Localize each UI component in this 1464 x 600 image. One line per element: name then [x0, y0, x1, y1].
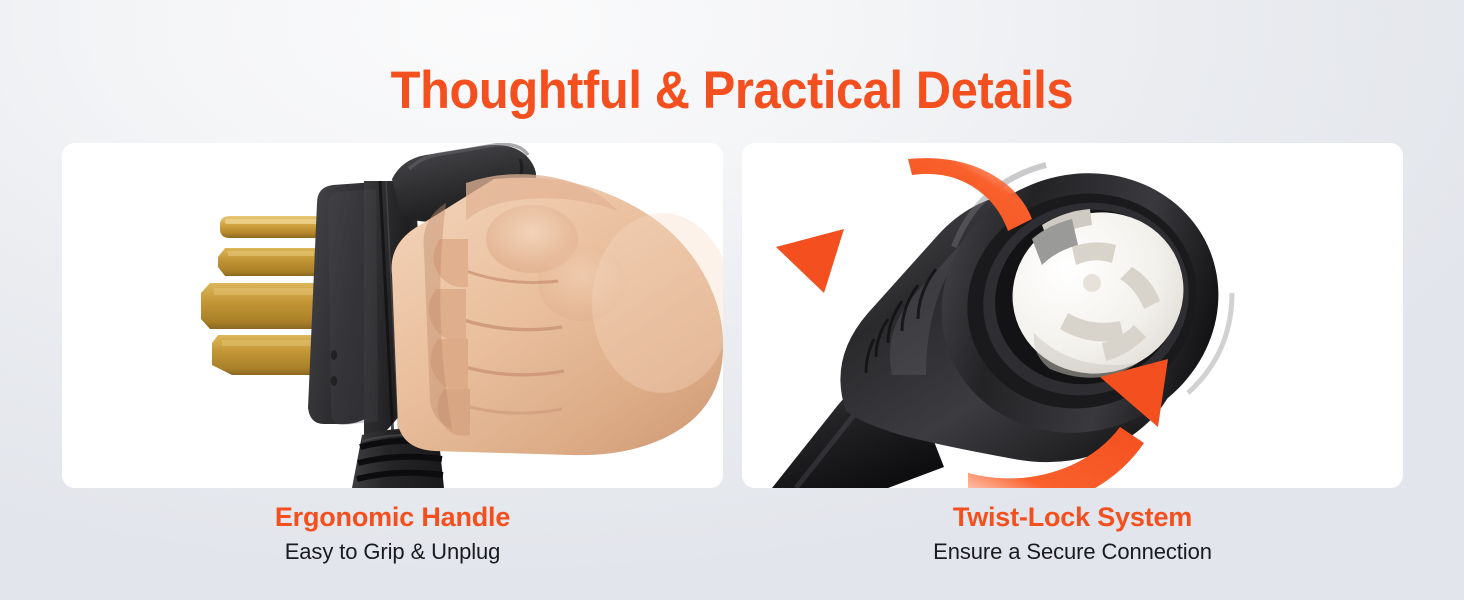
caption-subtitle-ergonomic-handle: Easy to Grip & Unplug	[62, 536, 723, 568]
twist-lock-illustration	[742, 143, 1403, 488]
caption-subtitle-twist-lock: Ensure a Secure Connection	[742, 536, 1403, 568]
feature-cards-row	[62, 143, 1403, 488]
ergonomic-handle-illustration	[62, 143, 723, 488]
hand-grip	[392, 174, 723, 455]
banner-title-container: Thoughtful & Practical Details	[0, 62, 1464, 120]
caption-title-twist-lock: Twist-Lock System	[742, 500, 1403, 534]
page-title: Thoughtful & Practical Details	[391, 62, 1074, 120]
feature-card-ergonomic-handle	[62, 143, 723, 488]
feature-card-twist-lock	[742, 143, 1403, 488]
feature-captions-row: Ergonomic Handle Easy to Grip & Unplug T…	[62, 500, 1403, 568]
caption-twist-lock: Twist-Lock System Ensure a Secure Connec…	[742, 500, 1403, 568]
caption-ergonomic-handle: Ergonomic Handle Easy to Grip & Unplug	[62, 500, 723, 568]
product-feature-banner: Thoughtful & Practical Details	[0, 0, 1464, 600]
caption-title-ergonomic-handle: Ergonomic Handle	[62, 500, 723, 534]
